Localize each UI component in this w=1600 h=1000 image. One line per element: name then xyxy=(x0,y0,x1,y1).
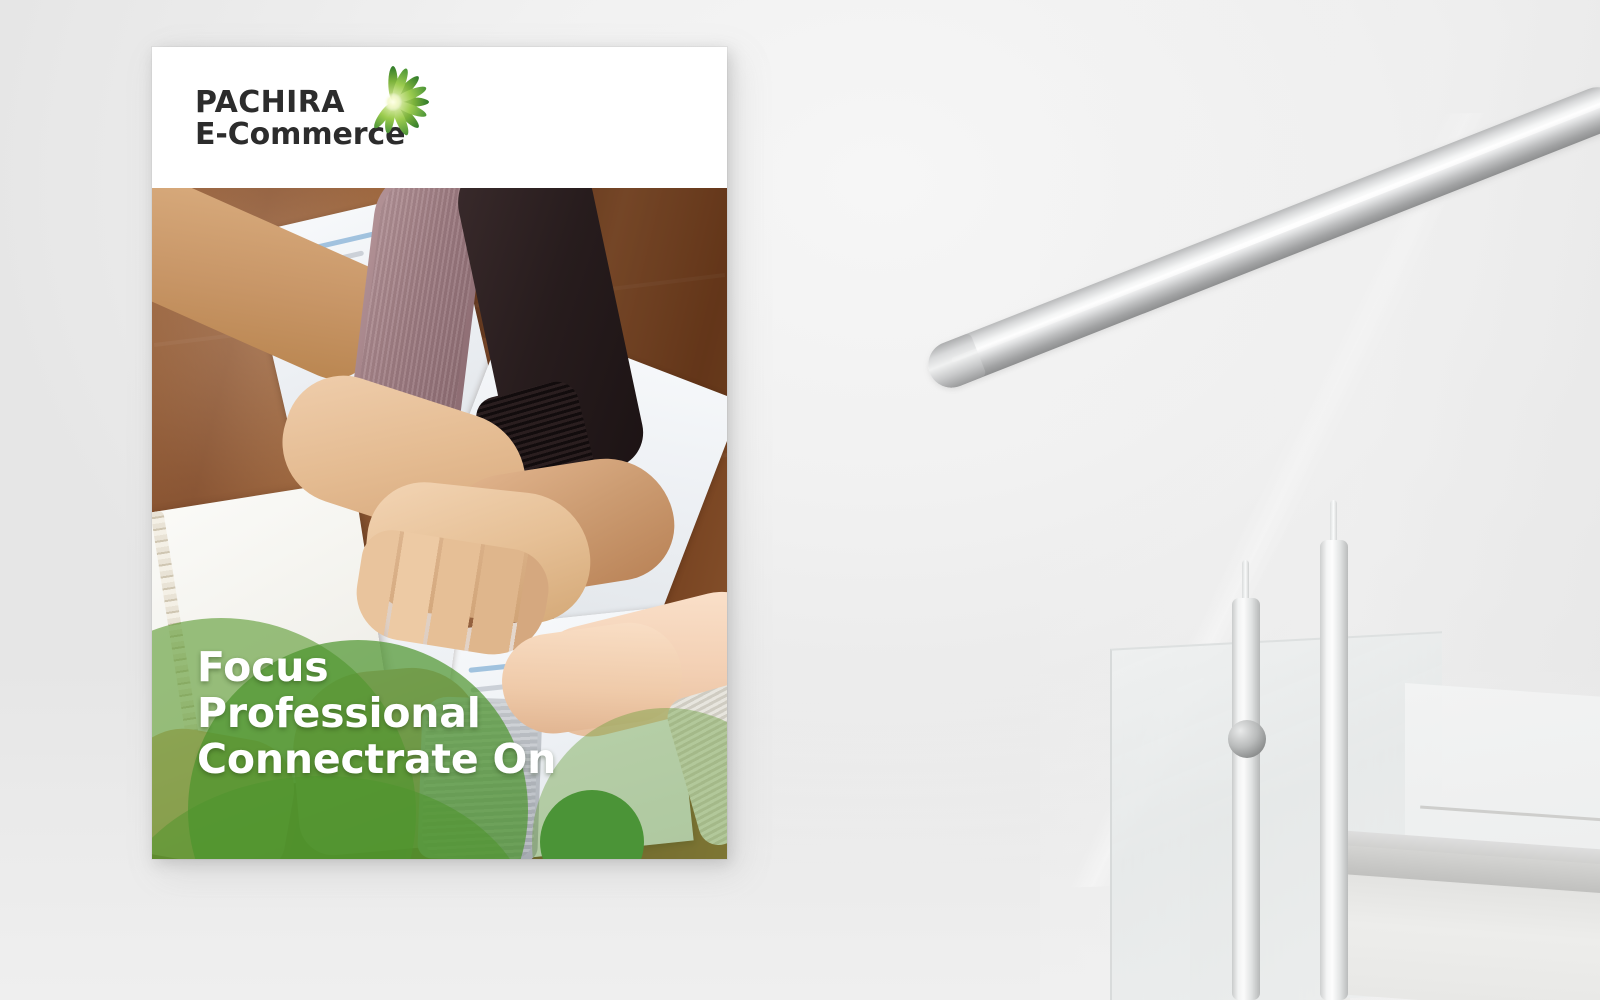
flower-petals-icon xyxy=(357,66,429,138)
brand-logo: PACHIRA E-Commerce xyxy=(195,87,405,151)
balustrade-post-right xyxy=(1320,540,1348,1000)
scene-photograph: PACHIRA E-Commerce xyxy=(0,0,1600,1000)
poster-header-band: PACHIRA E-Commerce xyxy=(152,47,727,188)
headline-line-1: Focus xyxy=(197,645,556,691)
headline-line-3: Connectrate On xyxy=(197,737,556,783)
balustrade-post-knob xyxy=(1228,720,1266,758)
pachira-poster[interactable]: PACHIRA E-Commerce xyxy=(152,47,727,859)
poster-photo: Focus Professional Connectrate On xyxy=(152,188,727,859)
balustrade-post-left xyxy=(1232,598,1260,1000)
headline-line-2: Professional xyxy=(197,691,556,737)
stair-tread-face xyxy=(1326,874,1600,1000)
poster-headline: Focus Professional Connectrate On xyxy=(197,645,556,783)
